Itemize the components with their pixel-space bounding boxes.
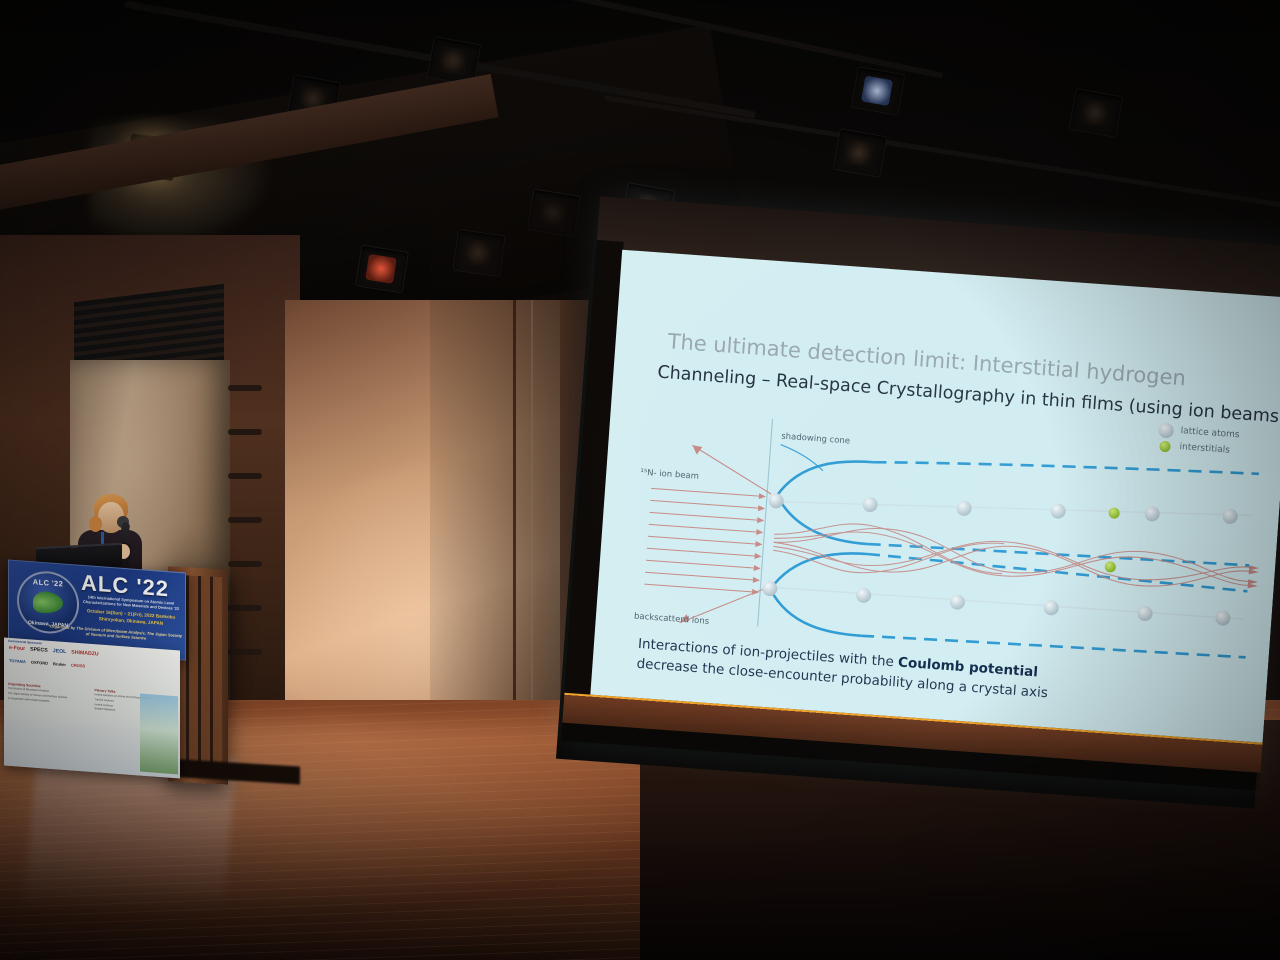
banner-dates: October 16(Sun) – 21(Fri), 2022 Bankoku … (79, 608, 183, 629)
wall-brackets (228, 385, 268, 705)
sponsor-logo: OXFORD (31, 660, 48, 666)
sponsor-logo: SHIMADZU (71, 649, 98, 657)
palm-island-icon (33, 590, 63, 614)
channeling-diagram: shadowing cone ¹⁵N- ion beam backscatter… (621, 379, 1277, 674)
stage-light-icon (851, 66, 906, 116)
stage-light-icon (1069, 88, 1124, 138)
sponsor-logo: SPECS (30, 646, 48, 653)
program-poster: Commercial Sponsors e-Four SPECS JEOL SH… (4, 638, 180, 779)
sponsor-logo: e-Four (9, 645, 25, 652)
poster-photo (140, 694, 178, 775)
presentation-photo: ALC '22 Okinawa, JAPAN ALC '22 14th Inte… (0, 0, 1280, 960)
stage-light-icon (355, 245, 409, 294)
logo-title: ALC '22 (19, 576, 77, 589)
sponsor-logo: CROSS (71, 662, 85, 668)
diagram-svg (621, 379, 1277, 674)
sponsor-logo: JEOL (53, 648, 67, 655)
sponsor-logo: TOYAMA (9, 658, 26, 664)
projection-screen: The ultimate detection limit: Interstiti… (561, 196, 1280, 791)
sponsor-row-2: TOYAMA OXFORD Bruker CROSS (9, 658, 85, 669)
speaker-hair-bun (89, 516, 102, 532)
sponsor-row-1: e-Four SPECS JEOL SHIMADZU (9, 645, 99, 658)
poster-column: Organizing Societies The Division of Mic… (8, 682, 90, 770)
presentation-slide: The ultimate detection limit: Interstiti… (590, 250, 1280, 743)
stage-light-icon (833, 128, 888, 178)
sponsor-logo: Bruker (53, 661, 66, 667)
